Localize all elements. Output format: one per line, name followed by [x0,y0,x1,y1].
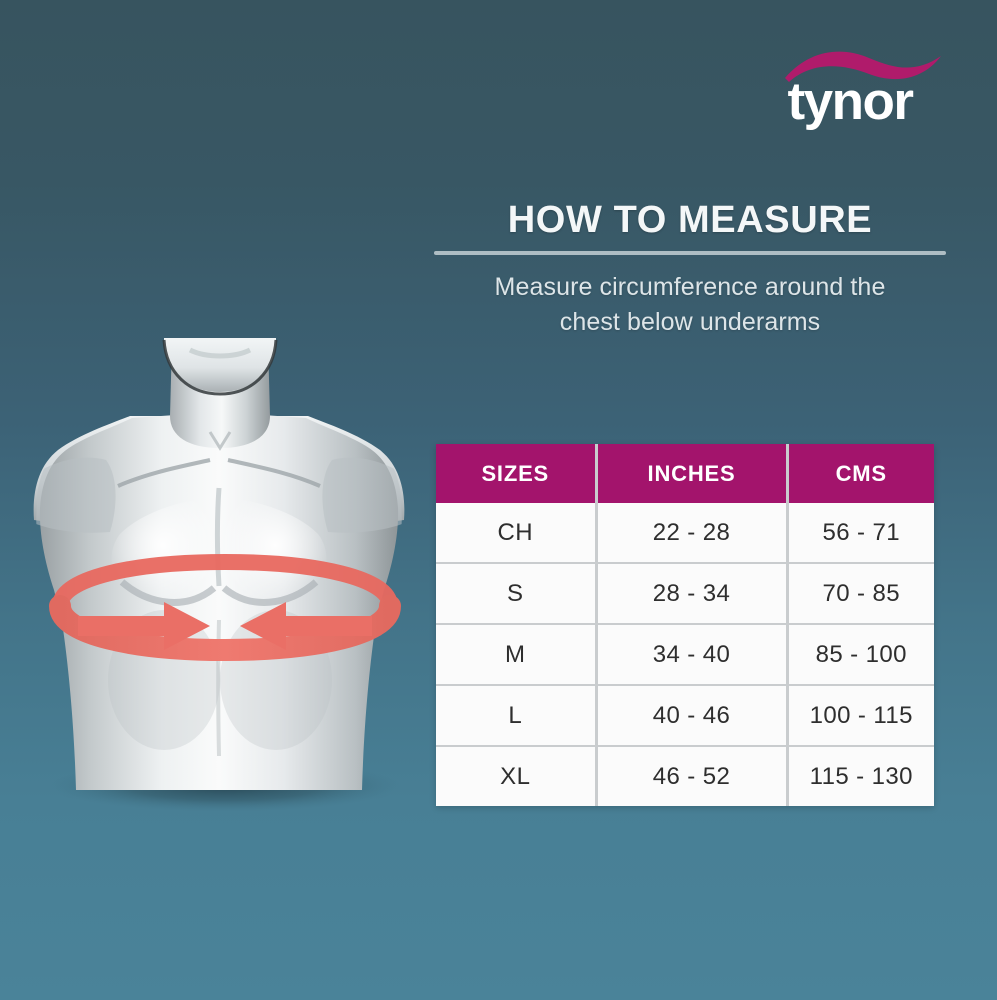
cell-cms: 100 - 115 [787,685,934,746]
column-header-cms: CMS [787,444,934,503]
page-title: HOW TO MEASURE [434,198,946,242]
deltoid-left [36,458,116,533]
table-row: CH 22 - 28 56 - 71 [436,503,934,563]
title-divider [434,251,946,255]
cell-cms: 70 - 85 [787,563,934,624]
cell-size: XL [436,746,596,806]
cell-size: L [436,685,596,746]
cell-inches: 46 - 52 [596,746,787,806]
cell-cms: 115 - 130 [787,746,934,806]
cell-size: CH [436,503,596,563]
cell-cms: 85 - 100 [787,624,934,685]
size-chart-page: tynor HOW TO MEASURE Measure circumferen… [0,0,997,1000]
deltoid-right [322,458,402,533]
table-row: M 34 - 40 85 - 100 [436,624,934,685]
cell-inches: 34 - 40 [596,624,787,685]
table-row: XL 46 - 52 115 - 130 [436,746,934,806]
cell-inches: 40 - 46 [596,685,787,746]
subtitle-line-2: chest below underarms [430,305,950,340]
sternum-line [218,488,220,586]
page-subtitle: Measure circumference around the chest b… [430,270,950,340]
cell-size: M [436,624,596,685]
size-chart-table: SIZES INCHES CMS CH 22 - 28 56 - 71 S 28… [436,444,934,806]
table-row: S 28 - 34 70 - 85 [436,563,934,624]
subtitle-line-1: Measure circumference around the [430,270,950,305]
torso-svg [14,320,434,840]
cell-inches: 28 - 34 [596,563,787,624]
column-header-inches: INCHES [596,444,787,503]
cell-cms: 56 - 71 [787,503,934,563]
cell-size: S [436,563,596,624]
logo-wordmark: tynor [745,74,955,130]
column-header-sizes: SIZES [436,444,596,503]
cell-inches: 22 - 28 [596,503,787,563]
table-row: L 40 - 46 100 - 115 [436,685,934,746]
tynor-logo: tynor [745,38,955,138]
table-header-row: SIZES INCHES CMS [436,444,934,503]
torso-illustration [14,320,434,840]
